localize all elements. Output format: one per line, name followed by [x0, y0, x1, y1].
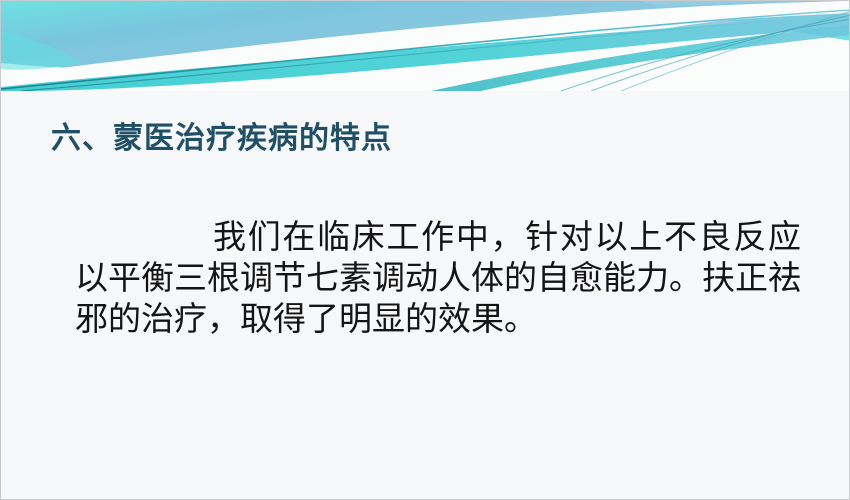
banner-white-swoosh-upper: [251, 1, 850, 91]
banner-base: [1, 1, 850, 91]
slide-canvas: 六、蒙医治疗疾病的特点 我们在临床工作中，针对以上不良反应以平衡三根调节七素调动…: [0, 0, 850, 500]
banner-thin-strand-1: [1, 10, 850, 89]
banner-thin-strand-5: [621, 11, 850, 91]
banner-turquoise-ribbon: [1, 13, 850, 91]
banner-white-swoosh: [1, 1, 850, 85]
banner-sky-lobe: [641, 1, 850, 41]
slide-body-text: 我们在临床工作中，针对以上不良反应以平衡三根调节七素调动人体的自愈能力。扶正祛邪…: [75, 216, 801, 339]
banner-thin-strand-4: [591, 15, 850, 91]
wave-banner-decoration: [1, 1, 850, 91]
banner-sky-field: [1, 1, 850, 69]
banner-thin-strand-3: [561, 19, 850, 91]
banner-turquoise-ribbon-mid: [431, 25, 850, 91]
wave-banner-svg: [1, 1, 850, 91]
banner-cyan-wedge: [1, 31, 81, 70]
slide-title: 六、蒙医治疗疾病的特点: [51, 119, 392, 159]
banner-thin-strand-2: [21, 15, 850, 91]
